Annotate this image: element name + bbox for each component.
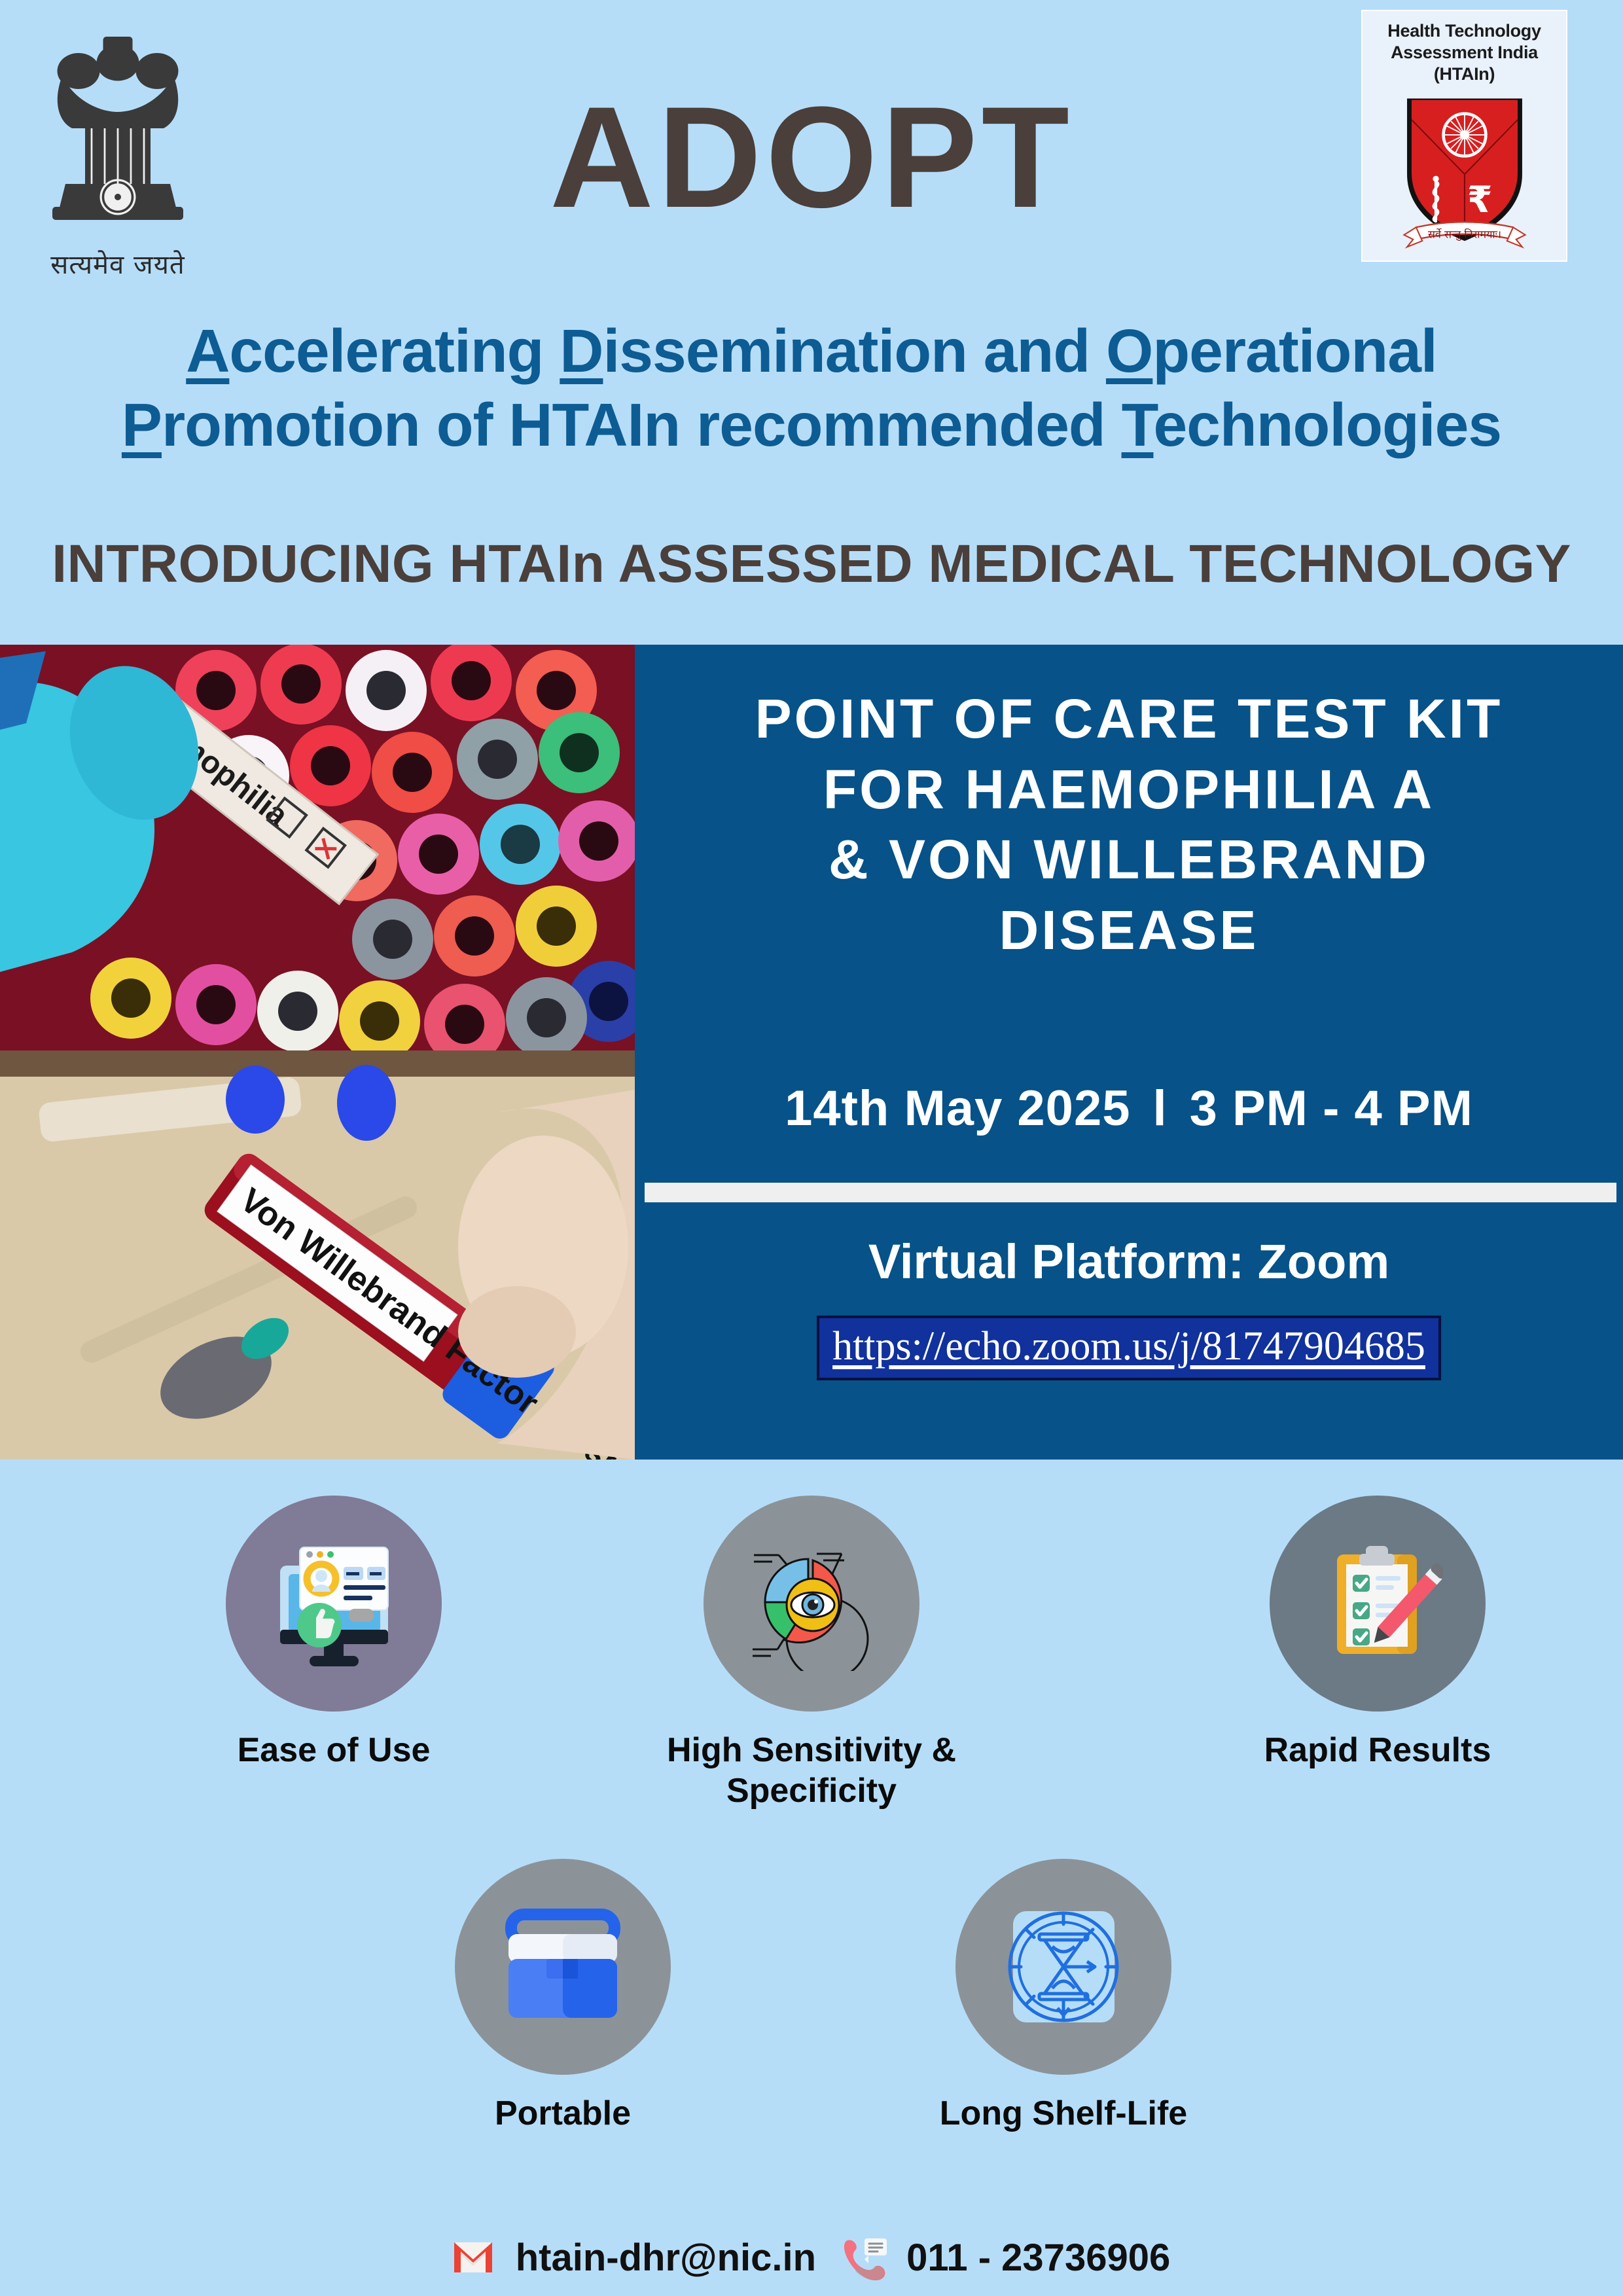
- event-time: 3 PM - 4 PM: [1190, 1081, 1473, 1136]
- contact-footer: htain-dhr@nic.in 011 - 23736906: [0, 2219, 1623, 2296]
- clipboard-checklist-pencil-icon: [1270, 1496, 1486, 1712]
- expansion-line2-mid: romotion of HTAIn recommended: [162, 391, 1122, 459]
- zoom-link[interactable]: https://echo.zoom.us/j/81747904685: [832, 1323, 1425, 1370]
- contact-phone: 011 - 23736906: [906, 2236, 1170, 2280]
- virtual-platform-label: Virtual Platform: Zoom: [661, 1234, 1597, 1289]
- event-title: POINT OF CARE TEST KIT FOR HAEMOPHILIA A…: [661, 684, 1597, 965]
- monitor-thumbs-up-icon: [226, 1496, 442, 1712]
- htain-ribbon-text: सर्वे सन्तु निरामयाः।: [1427, 228, 1501, 241]
- expansion-a: A: [186, 317, 229, 385]
- features-section: Ease of Use: [0, 1460, 1623, 2232]
- media-and-event-band: Hemophilia: [0, 645, 1623, 1460]
- poster-root: सत्यमेव जयते ADOPT Health Technology Ass…: [0, 0, 1623, 2296]
- event-title-line-4: DISEASE: [661, 895, 1597, 966]
- expansion-heading: Accelerating Dissemination and Operation…: [0, 314, 1623, 463]
- expansion-line2-end: echnologies: [1153, 391, 1501, 459]
- photo-hemophilia-test: Hemophilia: [0, 645, 635, 1050]
- event-datetime: 14th May 2025l3 PM - 4 PM: [661, 1080, 1597, 1137]
- introducing-subheading: INTRODUCING HTAIn ASSESSED MEDICAL TECHN…: [0, 533, 1623, 595]
- feature-ease-of-use: Ease of Use: [180, 1496, 488, 1770]
- expansion-o: O: [1106, 317, 1152, 385]
- expansion-p: P: [122, 391, 162, 459]
- expansion-t: T: [1122, 391, 1154, 459]
- panel-divider: [645, 1183, 1616, 1202]
- emblem-motto-text: सत्यमेव जयते: [50, 245, 185, 281]
- htain-shield-icon: ₹ सर्वे सन्तु निरामयाः।: [1383, 86, 1546, 260]
- expansion-line1-mid: issemination and: [603, 317, 1106, 385]
- svg-text:₹: ₹: [1467, 179, 1492, 221]
- event-date: 14th May 2025: [785, 1081, 1130, 1136]
- feature-label: High Sensitivity & Specificity: [658, 1730, 965, 1812]
- contact-email[interactable]: htain-dhr@nic.in: [516, 2236, 816, 2280]
- gmail-envelope-icon: [453, 2241, 493, 2274]
- feature-sensitivity-specificity: High Sensitivity & Specificity: [658, 1496, 965, 1812]
- event-title-line-3: & VON WILLEBRAND: [661, 825, 1597, 895]
- expansion-d: D: [560, 317, 603, 385]
- telephone-receiver-icon: [838, 2237, 884, 2278]
- photo-vwf-test: Von Willebrand Factor - Test: [0, 1050, 635, 1460]
- event-title-line-1: POINT OF CARE TEST KIT: [661, 684, 1597, 755]
- feature-label: Rapid Results: [1224, 1730, 1531, 1770]
- datetime-separator: l: [1130, 1080, 1189, 1137]
- expansion-line1-end: perational: [1152, 317, 1436, 385]
- expansion-line-1: Accelerating Dissemination and Operation…: [0, 314, 1623, 388]
- hourglass-clock-icon: [955, 1859, 1171, 2075]
- pie-chart-eye-icon: [704, 1496, 919, 1712]
- cooler-box-icon: [455, 1859, 671, 2075]
- htain-logo-line1: Health Technology: [1387, 20, 1541, 42]
- expansion-line-2: Promotion of HTAIn recommended Technolog…: [0, 388, 1623, 462]
- event-details-panel: POINT OF CARE TEST KIT FOR HAEMOPHILIA A…: [635, 645, 1623, 1460]
- feature-portable: Portable: [409, 1859, 717, 2134]
- feature-label-line-2: Specificity: [658, 1770, 965, 1811]
- event-title-line-2: FOR HAEMOPHILIA A: [661, 755, 1597, 825]
- zoom-link-box[interactable]: https://echo.zoom.us/j/81747904685: [817, 1316, 1441, 1380]
- htain-logo-line2: Assessment India (HTAIn): [1363, 42, 1566, 85]
- feature-label: Long Shelf-Life: [910, 2093, 1217, 2134]
- feature-long-shelf-life: Long Shelf-Life: [910, 1859, 1217, 2134]
- expansion-line1-pre: ccelerating: [229, 317, 560, 385]
- feature-label-line-1: High Sensitivity &: [658, 1730, 965, 1770]
- feature-rapid-results: Rapid Results: [1224, 1496, 1531, 1770]
- feature-label: Ease of Use: [180, 1730, 488, 1770]
- htain-logo: Health Technology Assessment India (HTAI…: [1361, 10, 1567, 262]
- feature-label: Portable: [409, 2093, 717, 2134]
